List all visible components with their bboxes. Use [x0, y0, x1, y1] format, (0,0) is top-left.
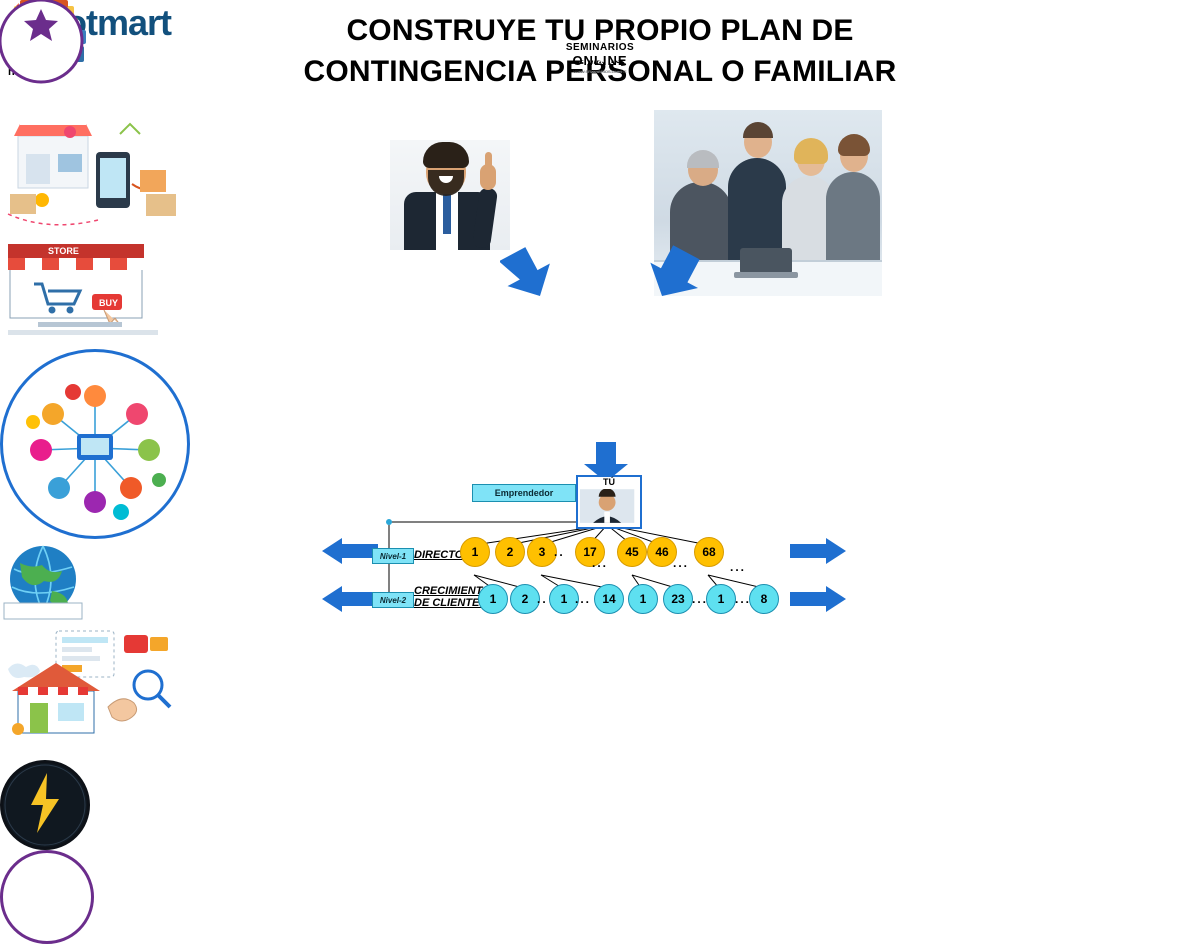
globe-icon: http://www.: [0, 539, 86, 625]
left-arrow-icon-level-2: [320, 584, 380, 614]
level-1-node-7[interactable]: 68: [694, 537, 724, 567]
level-2-ellipsis-1: ..: [537, 592, 548, 606]
level-1-node-3[interactable]: 3: [527, 537, 557, 567]
ecommerce-isometric-illustration: [0, 114, 192, 234]
level-1-ellipsis-3: ...: [673, 556, 689, 570]
level-2-ellipsis-4: ...: [735, 592, 751, 606]
seminarios-online-badge: SEMINARIOS ONLINE WWW.SEMINARIOS.ONLINE: [0, 850, 94, 944]
level-2-node-4[interactable]: 14: [594, 584, 624, 614]
level-2-ellipsis-2: ...: [575, 592, 591, 606]
online-store-screen: STORE BUY: [0, 234, 170, 349]
right-arrow-icon-level-2: [788, 584, 848, 614]
level-1-ellipsis-1: ..: [554, 545, 565, 559]
level-1-ellipsis-2: ...: [592, 556, 608, 570]
online-shopping-home-illustration: [0, 625, 180, 760]
level-2-node-7[interactable]: 1: [706, 584, 736, 614]
man-pointing-up-photo: [390, 140, 510, 250]
svg-text:BUY: BUY: [99, 298, 118, 308]
arrow-down-right-icon: [640, 244, 702, 302]
flash-afiliados-badge: Flash Afiliados www.FlashAfiliados.com: [0, 760, 90, 850]
seminarios-online-line2: ONLINE: [0, 53, 1200, 68]
level-2-node-6[interactable]: 23: [663, 584, 693, 614]
you-label: TÚ: [578, 477, 640, 487]
arrow-down-left-icon: [500, 244, 562, 302]
level-2-ellipsis-3: ...: [692, 592, 708, 606]
seminarios-online-line1: SEMINARIOS: [0, 42, 1200, 53]
you-node: TÚ: [576, 475, 642, 529]
level-2-badge: Nivel-2: [372, 592, 414, 608]
level-1-node-2[interactable]: 2: [495, 537, 525, 567]
level-2-node-1[interactable]: 1: [478, 584, 508, 614]
entrepreneur-label: Emprendedor: [472, 484, 576, 502]
level-2-node-5[interactable]: 1: [628, 584, 658, 614]
left-arrow-icon-level-1: [320, 536, 380, 566]
level-1-badge: Nivel-1: [372, 548, 414, 564]
seminarios-online-url: WWW.SEMINARIOS.ONLINE: [0, 69, 1200, 74]
level-1-node-5[interactable]: 45: [617, 537, 647, 567]
level-2-node-8[interactable]: 8: [749, 584, 779, 614]
poster-canvas: CONSTRUYE TU PROPIO PLAN DE CONTINGENCIA…: [0, 0, 1200, 628]
digital-network-circle-illustration: [0, 349, 190, 539]
level-1-ellipsis-4: ...: [730, 560, 746, 574]
svg-text:STORE: STORE: [48, 246, 79, 256]
right-arrow-icon-level-1: [788, 536, 848, 566]
level-1-node-1[interactable]: 1: [460, 537, 490, 567]
level-2-node-2[interactable]: 2: [510, 584, 540, 614]
